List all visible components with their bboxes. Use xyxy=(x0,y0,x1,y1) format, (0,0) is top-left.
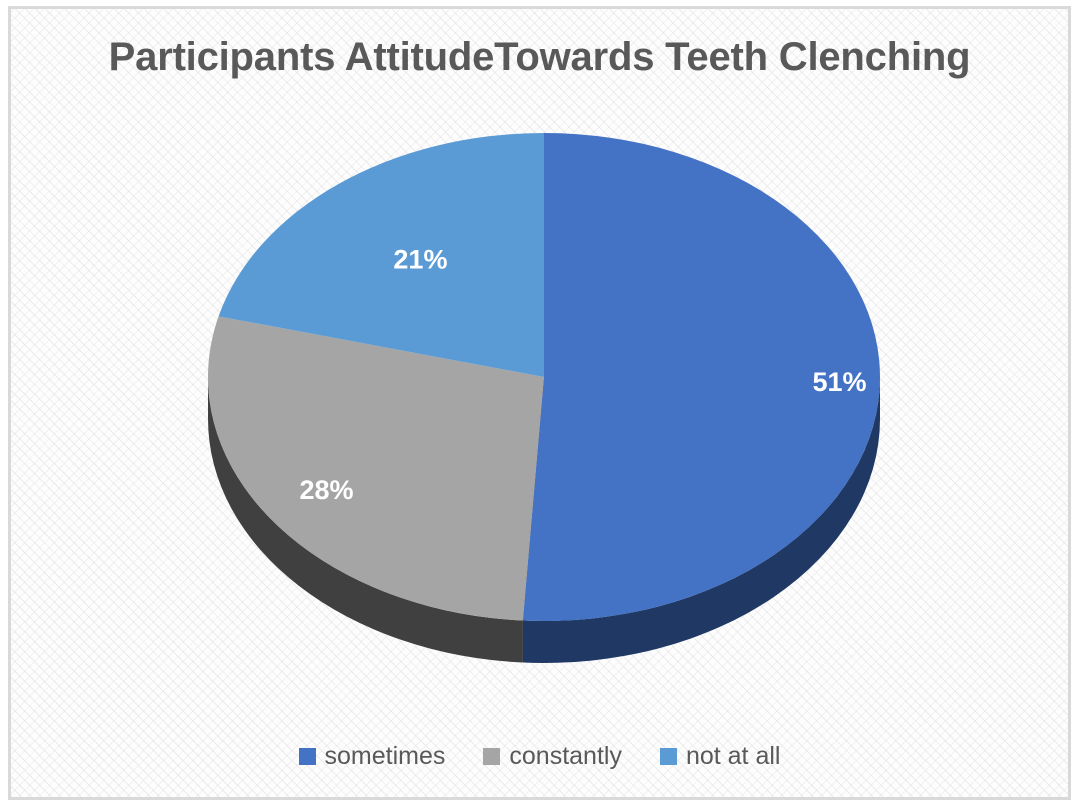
legend-label-not-at-all: not at all xyxy=(686,744,781,769)
legend-label-constantly: constantly xyxy=(509,744,622,769)
legend-label-sometimes: sometimes xyxy=(325,744,446,769)
pie-geometry xyxy=(208,133,880,663)
legend-swatch-not-at-all xyxy=(660,748,677,765)
legend-swatch-sometimes xyxy=(299,748,316,765)
chart-screenshot: Participants AttitudeTowards Teeth Clenc… xyxy=(0,0,1081,808)
pie-data-label-not-at-all: 21% xyxy=(393,244,447,274)
pie-plot-area: 51%28%21% xyxy=(11,9,1081,709)
pie-chart-svg: 51%28%21% xyxy=(11,9,1074,709)
legend-item-sometimes[interactable]: sometimes xyxy=(299,744,446,769)
chart-frame: Participants AttitudeTowards Teeth Clenc… xyxy=(8,6,1071,800)
pie-data-label-sometimes: 51% xyxy=(813,367,867,397)
chart-legend: sometimes constantly not at all xyxy=(11,744,1068,769)
legend-item-constantly[interactable]: constantly xyxy=(483,744,622,769)
legend-swatch-constantly xyxy=(483,748,500,765)
pie-data-label-constantly: 28% xyxy=(300,475,354,505)
legend-item-not-at-all[interactable]: not at all xyxy=(660,744,781,769)
